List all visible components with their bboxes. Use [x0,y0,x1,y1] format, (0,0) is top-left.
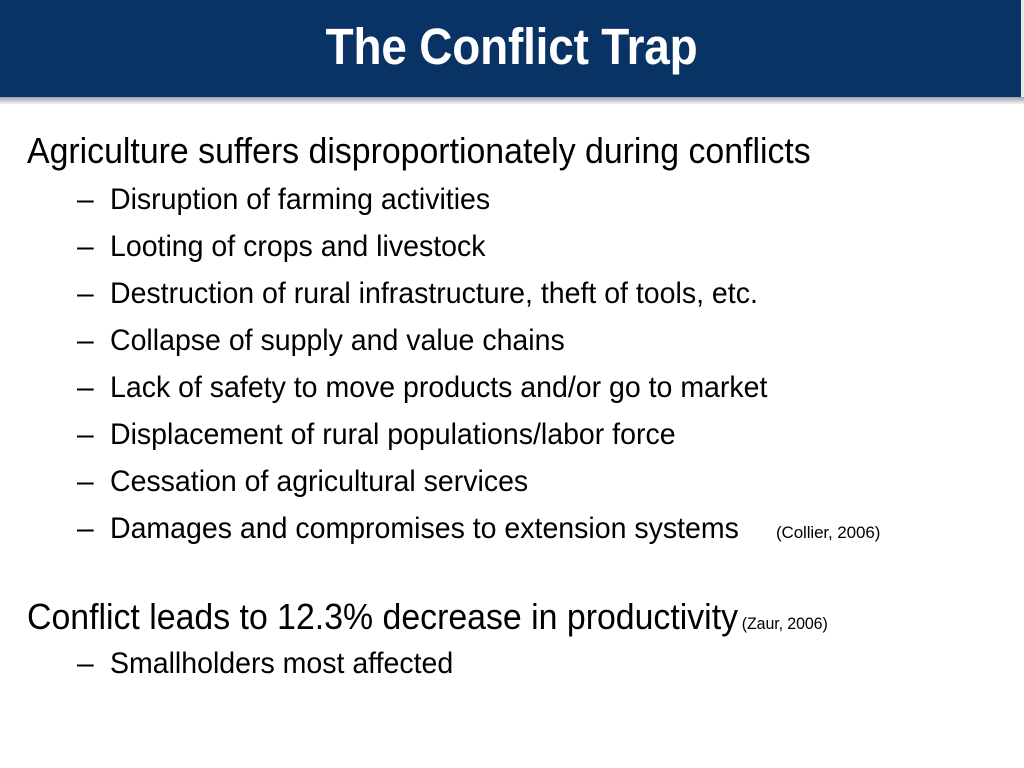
list-item-label: Smallholders most affected [110,640,453,687]
list-item: – Lack of safety to move products and/or… [27,364,1004,411]
list-item: – Looting of crops and livestock [27,223,1004,270]
list-item-label: Destruction of rural infrastructure, the… [110,270,758,317]
list-item: – Cessation of agricultural services [27,458,1004,505]
dash-bullet-icon: – [77,176,110,223]
slide-body: Agriculture suffers disproportionately d… [0,104,1024,768]
list-item-label: Damages and compromises to extension sys… [110,505,739,552]
list-item: – Disruption of farming activities [27,176,1004,223]
page-title: The Conflict Trap [326,21,698,76]
dash-bullet-icon: – [77,270,110,317]
dash-bullet-icon: – [77,505,110,552]
citation-zaur: (Zaur, 2006) [738,614,828,633]
list-item-label: Collapse of supply and value chains [110,317,565,364]
dash-bullet-icon: – [77,458,110,505]
list-item: – Destruction of rural infrastructure, t… [27,270,1004,317]
section-heading: Agriculture suffers disproportionately d… [27,130,945,172]
content-section-agriculture: Agriculture suffers disproportionately d… [27,130,1004,552]
dash-bullet-icon: – [77,411,110,458]
list-item: – Collapse of supply and value chains [27,317,1004,364]
dash-bullet-icon: – [77,317,110,364]
section-heading-wrapper: Conflict leads to 12.3% decrease in prod… [27,596,945,638]
bullet-list-productivity: – Smallholders most affected [27,640,1004,687]
list-item: – Smallholders most affected [27,640,1004,687]
list-item-label: Disruption of farming activities [110,176,490,223]
dash-bullet-icon: – [77,223,110,270]
citation-collier: (Collier, 2006) [772,524,880,541]
bullet-list-agriculture: – Disruption of farming activities – Loo… [27,176,1004,552]
list-item-label: Displacement of rural populations/labor … [110,411,676,458]
list-item: – Damages and compromises to extension s… [27,505,1004,552]
slide-title-banner: The Conflict Trap [0,0,1024,97]
list-item: – Displacement of rural populations/labo… [27,411,1004,458]
section-heading: Conflict leads to 12.3% decrease in prod… [27,596,738,637]
content-section-productivity: Conflict leads to 12.3% decrease in prod… [27,596,1004,687]
list-item-label: Looting of crops and livestock [110,223,485,270]
list-item-label: Lack of safety to move products and/or g… [110,364,767,411]
banner-drop-shadow [0,97,1024,104]
section-spacer [27,552,1004,596]
dash-bullet-icon: – [77,640,110,687]
dash-bullet-icon: – [77,364,110,411]
slide-the-conflict-trap: The Conflict Trap Agriculture suffers di… [0,0,1024,768]
list-item-label: Cessation of agricultural services [110,458,528,505]
